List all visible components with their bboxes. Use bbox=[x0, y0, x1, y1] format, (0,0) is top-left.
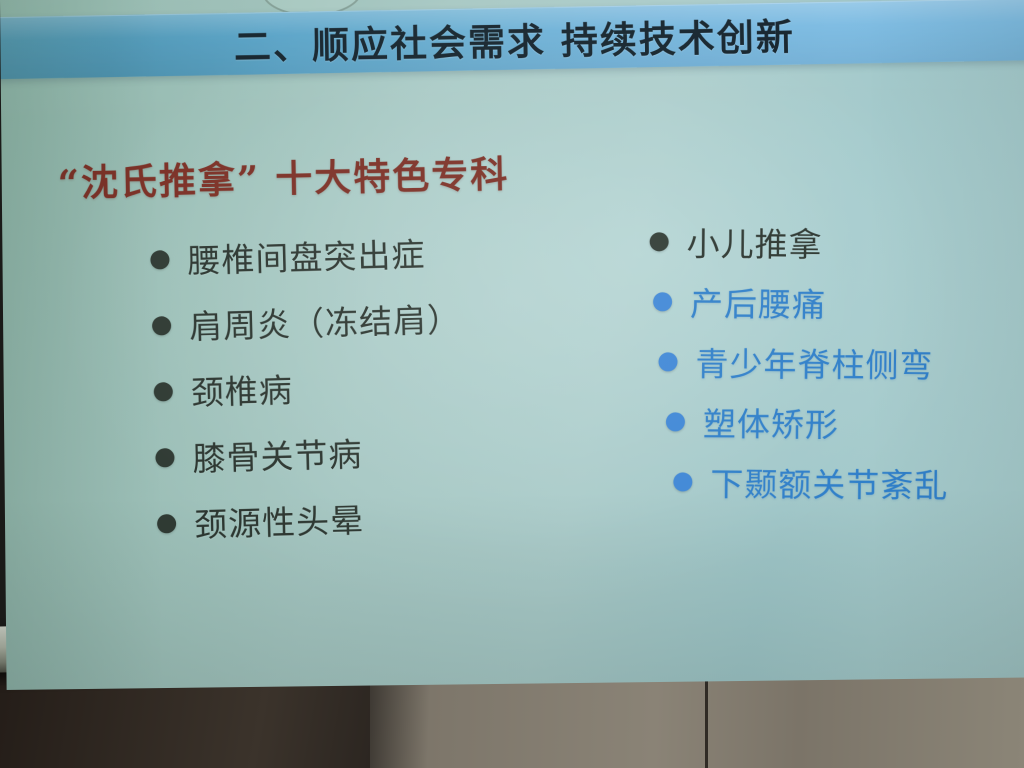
filled-circle-bullet-icon bbox=[154, 382, 173, 402]
list-item: 下颞额关节紊乱 bbox=[673, 451, 949, 513]
list-item-label: 产后腰痛 bbox=[690, 277, 826, 326]
filled-circle-bullet-icon bbox=[658, 352, 677, 371]
bullet-column-left: 腰椎间盘突出症 肩周炎（冻结肩） 颈椎病 膝骨关节病 颈源性头晕 bbox=[150, 218, 467, 557]
list-item: 颈源性头晕 bbox=[156, 482, 467, 557]
list-item-label: 小儿推拿 bbox=[686, 217, 822, 266]
list-item-label: 青少年脊柱侧弯 bbox=[695, 338, 933, 388]
list-item: 腰椎间盘突出症 bbox=[150, 218, 461, 293]
list-item-label: 下颞额关节紊乱 bbox=[710, 458, 948, 508]
list-item-label: 肩周炎（冻结肩） bbox=[188, 293, 461, 349]
presentation-slide: 二、顺应社会需求 持续技术创新 “沈氏推拿” 十大特色专科 腰椎间盘突出症 肩周… bbox=[0, 0, 1024, 690]
slide-subtitle: “沈氏推拿” 十大特色专科 bbox=[57, 144, 509, 207]
curtain-seam bbox=[705, 673, 708, 768]
list-item: 膝骨关节病 bbox=[155, 416, 466, 491]
list-item: 产后腰痛 bbox=[653, 271, 951, 333]
filled-circle-bullet-icon bbox=[673, 472, 692, 491]
bullet-column-right: 小儿推拿 产后腰痛 青少年脊柱侧弯 塑体矫形 下颞额关节紊乱 bbox=[647, 211, 951, 513]
slide-title: 二、顺应社会需求 持续技术创新 bbox=[0, 2, 1024, 75]
filled-circle-bullet-icon bbox=[157, 514, 176, 534]
filled-circle-bullet-icon bbox=[666, 412, 685, 431]
photo-of-projected-slide: 二、顺应社会需求 持续技术创新 “沈氏推拿” 十大特色专科 腰椎间盘突出症 肩周… bbox=[0, 0, 1024, 768]
list-item: 颈椎病 bbox=[153, 350, 464, 425]
list-item-label: 颈椎病 bbox=[190, 364, 293, 415]
list-item: 塑体矫形 bbox=[666, 391, 950, 453]
list-item: 小儿推拿 bbox=[649, 211, 951, 273]
filled-circle-bullet-icon bbox=[150, 250, 169, 270]
list-item-label: 腰椎间盘突出症 bbox=[187, 228, 426, 283]
list-item-label: 颈源性头晕 bbox=[194, 494, 365, 547]
list-item: 肩周炎（冻结肩） bbox=[151, 284, 462, 359]
list-item-label: 塑体矫形 bbox=[703, 398, 839, 447]
list-item: 青少年脊柱侧弯 bbox=[658, 331, 950, 393]
filled-circle-bullet-icon bbox=[653, 292, 672, 311]
list-item-label: 膝骨关节病 bbox=[192, 428, 363, 481]
filled-circle-bullet-icon bbox=[155, 448, 174, 468]
slide-title-band: 二、顺应社会需求 持续技术创新 bbox=[0, 0, 1024, 79]
filled-circle-bullet-icon bbox=[152, 316, 171, 336]
filled-circle-bullet-icon bbox=[650, 232, 669, 251]
